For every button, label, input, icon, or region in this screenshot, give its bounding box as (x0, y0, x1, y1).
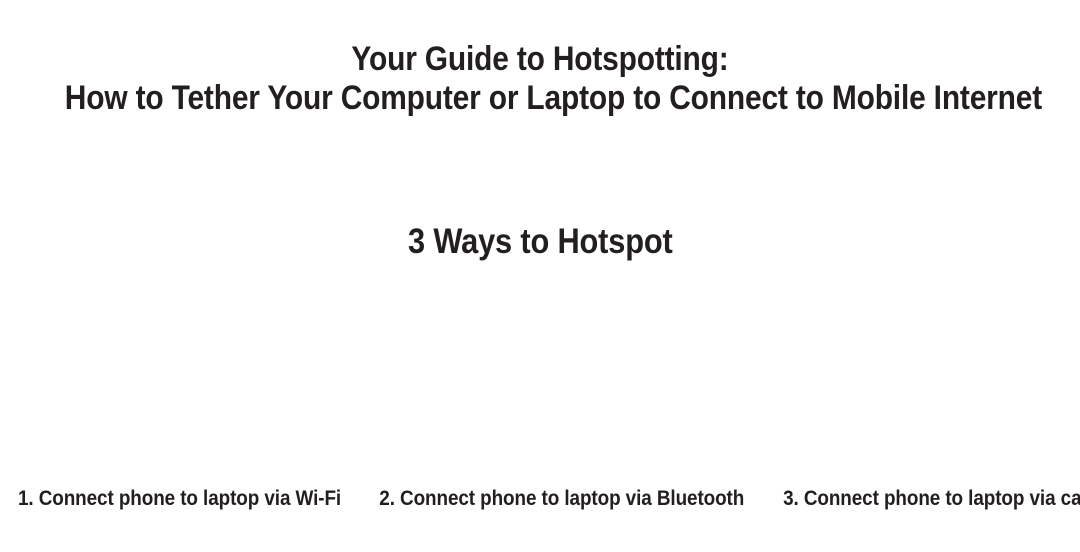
title-line-2: How to Tether Your Computer or Laptop to… (65, 79, 1015, 118)
title-line-1: Your Guide to Hotspotting: (65, 40, 1015, 79)
method-caption-cable-label: 3. Connect phone to laptop via cable (783, 487, 1080, 511)
illustration-slot-bluetooth (360, 285, 720, 475)
illustration-band (0, 285, 1080, 475)
method-caption-bluetooth-label: 2. Connect phone to laptop via Bluetooth (379, 487, 744, 511)
method-caption-wifi: 1. Connect phone to laptop via Wi-Fi (0, 487, 359, 517)
section-heading: 3 Ways to Hotspot (0, 221, 1080, 263)
method-caption-cable: 3. Connect phone to laptop via cable (765, 487, 1080, 517)
section-heading-text: 3 Ways to Hotspot (408, 221, 673, 263)
page-title: Your Guide to Hotspotting: How to Tether… (0, 40, 1080, 118)
method-caption-row: 1. Connect phone to laptop via Wi-Fi 2. … (0, 487, 1080, 517)
method-caption-wifi-label: 1. Connect phone to laptop via Wi-Fi (18, 487, 341, 511)
infographic-page: Your Guide to Hotspotting: How to Tether… (0, 0, 1080, 552)
illustration-slot-wifi (0, 285, 360, 475)
illustration-slot-cable (720, 285, 1080, 475)
method-caption-bluetooth: 2. Connect phone to laptop via Bluetooth (359, 487, 765, 517)
